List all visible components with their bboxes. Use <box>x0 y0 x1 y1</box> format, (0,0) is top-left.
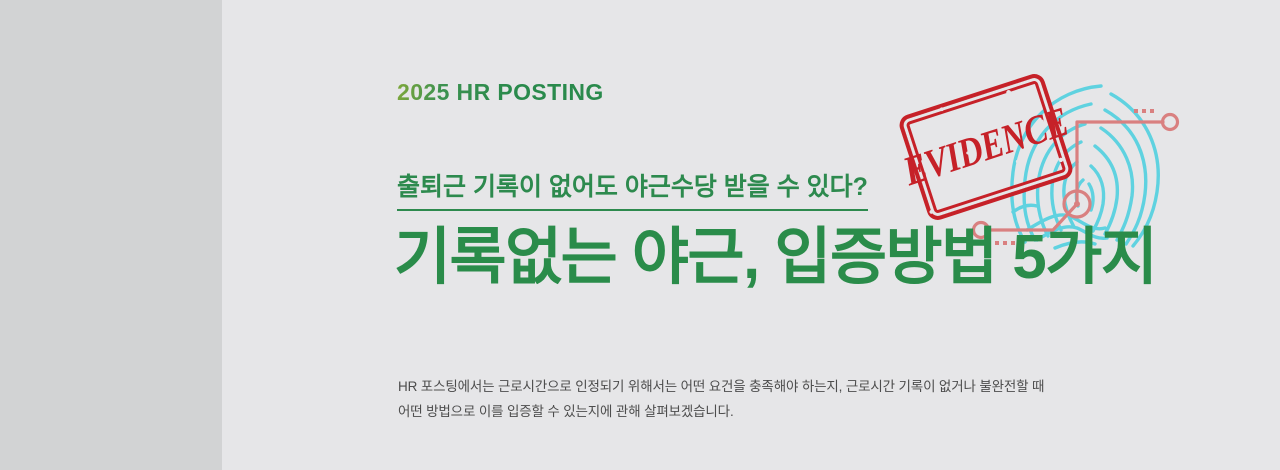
description-line-1: HR 포스팅에서는 근로시간으로 인정되기 위해서는 어떤 요건을 충족해야 하… <box>398 374 1158 399</box>
banner-description: HR 포스팅에서는 근로시간으로 인정되기 위해서는 어떤 요건을 충족해야 하… <box>398 374 1158 424</box>
page-title: 기록없는 야근, 입증방법 5가지 <box>394 222 1156 293</box>
eyebrow-label: 2025 HR POSTING <box>397 79 604 106</box>
hr-posting-banner: EVIDENCE 2025 HR POSTING 출퇴근 기록이 없어도 야근수… <box>0 0 1280 470</box>
description-line-2: 어떤 방법으로 이를 입증할 수 있는지에 관해 살펴보겠습니다. <box>398 399 1158 424</box>
left-gutter-panel <box>0 0 222 470</box>
banner-subtitle: 출퇴근 기록이 없어도 야근수당 받을 수 있다? <box>397 172 868 211</box>
banner-content: 2025 HR POSTING 출퇴근 기록이 없어도 야근수당 받을 수 있다… <box>397 0 1217 470</box>
